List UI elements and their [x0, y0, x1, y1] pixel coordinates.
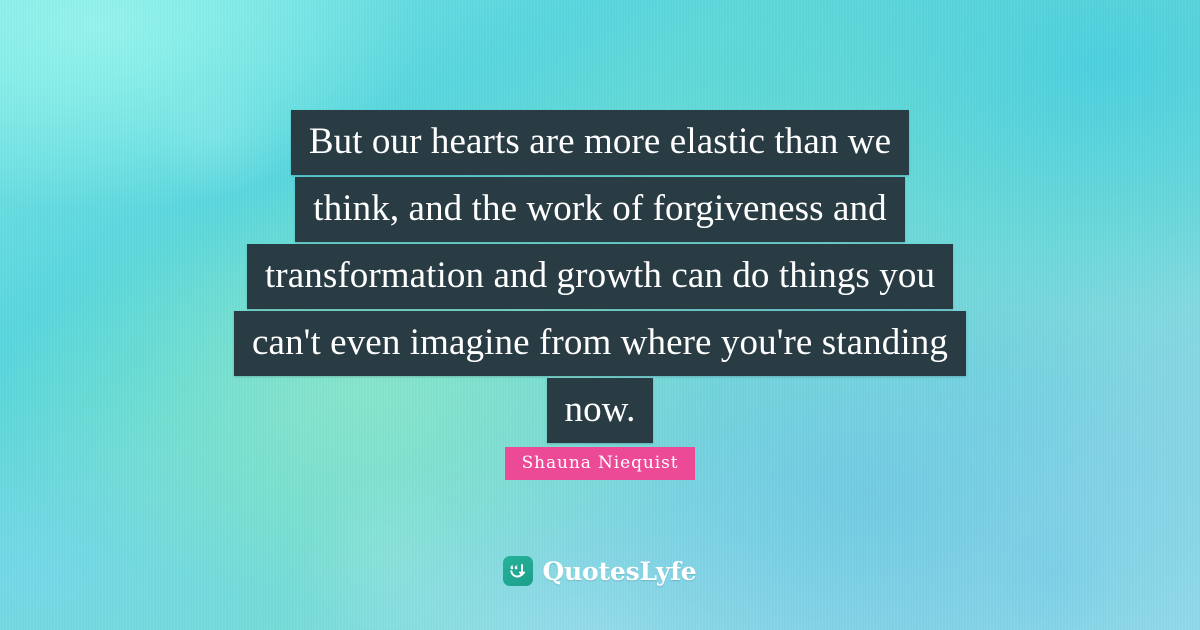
- brand-footer: QuotesLyfe: [0, 556, 1200, 586]
- quote-line: now.: [547, 378, 654, 443]
- quote-text-block: But our hearts are more elastic than we …: [0, 110, 1200, 445]
- quote-card: But our hearts are more elastic than we …: [0, 0, 1200, 630]
- quote-line: can't even imagine from where you're sta…: [234, 311, 966, 376]
- quote-line: think, and the work of forgiveness and: [295, 177, 904, 242]
- author-name-badge: Shauna Niequist: [505, 447, 696, 480]
- quote-line: transformation and growth can do things …: [247, 244, 953, 309]
- author-attribution: Shauna Niequist: [0, 447, 1200, 480]
- quote-smiley-icon: [503, 556, 533, 586]
- brand-name-text: QuotesLyfe: [542, 557, 696, 586]
- quote-line: But our hearts are more elastic than we: [291, 110, 909, 175]
